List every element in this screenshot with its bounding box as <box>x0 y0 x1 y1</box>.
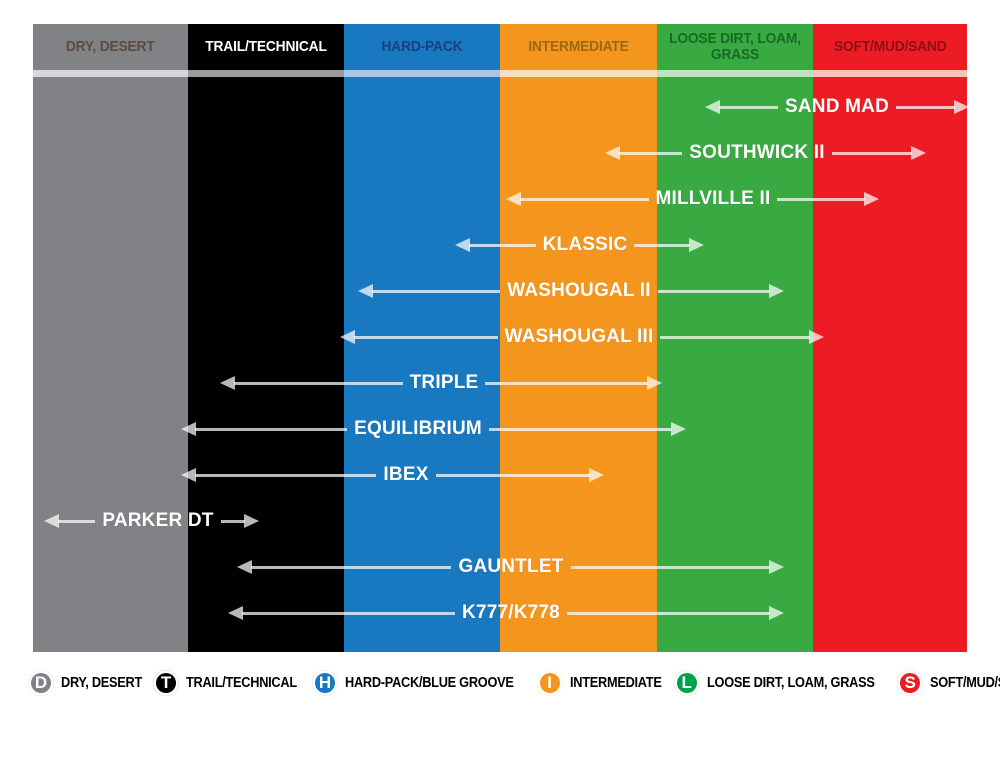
range-bar[interactable]: K777/K778 <box>228 600 770 626</box>
legend-badge-icon: I <box>537 670 563 696</box>
arrow-right-icon <box>221 508 259 534</box>
range-bar[interactable]: SOUTHWICK II <box>605 140 912 166</box>
arrow-right-icon <box>485 370 662 396</box>
arrow-left-icon <box>340 324 498 350</box>
range-bar-label: MILLVILLE II <box>656 188 771 210</box>
column-header-row: DRY, DESERTTRAIL/TECHNICALHARD-PACKINTER… <box>33 24 967 70</box>
column-header-hard-pack: HARD-PACK <box>344 24 500 70</box>
arrow-right-icon <box>489 416 686 442</box>
range-bar[interactable]: GAUNTLET <box>237 554 770 580</box>
column-header-intermediate: INTERMEDIATE <box>500 24 657 70</box>
legend-label: LOOSE DIRT, LOAM, GRASS <box>707 675 875 691</box>
column-header-trail-technical: TRAIL/TECHNICAL <box>188 24 344 70</box>
legend-label: INTERMEDIATE <box>570 675 662 691</box>
arrow-left-icon <box>605 140 682 166</box>
range-bar[interactable]: EQUILIBRIUM <box>181 416 672 442</box>
column-header-label: LOOSE DIRT, LOAM, GRASS <box>667 31 803 63</box>
column-header-label: TRAIL/TECHNICAL <box>205 39 326 55</box>
range-bar[interactable]: MILLVILLE II <box>506 186 865 212</box>
legend-item[interactable]: IINTERMEDIATE <box>537 670 674 696</box>
divider-segment-hard-pack <box>344 70 500 77</box>
legend-label: TRAIL/TECHNICAL <box>186 675 297 691</box>
range-bar-label: GAUNTLET <box>458 556 563 578</box>
range-bar-label: WASHOUGAL II <box>507 280 651 302</box>
legend-item[interactable]: TTRAIL/TECHNICAL <box>153 670 312 696</box>
legend-label: DRY, DESERT <box>61 675 142 691</box>
arrow-right-icon <box>571 554 784 580</box>
arrow-right-icon <box>777 186 879 212</box>
header-divider-band <box>33 70 967 77</box>
range-bar-label: SOUTHWICK II <box>689 142 824 164</box>
arrow-left-icon <box>506 186 649 212</box>
arrow-left-icon <box>220 370 403 396</box>
range-bar[interactable]: WASHOUGAL II <box>358 278 770 304</box>
range-bar-label: K777/K778 <box>462 602 560 624</box>
divider-segment-trail-technical <box>188 70 344 77</box>
range-bar[interactable]: IBEX <box>181 462 590 488</box>
arrow-left-icon <box>237 554 451 580</box>
arrow-right-icon <box>896 94 969 120</box>
column-header-soft-mud-sand: SOFT/MUD/SAND <box>813 24 967 70</box>
legend-badge-icon: H <box>312 670 338 696</box>
arrow-left-icon <box>455 232 536 258</box>
arrow-left-icon <box>705 94 778 120</box>
column-band-dry-desert <box>33 77 188 652</box>
range-bar[interactable]: TRIPLE <box>220 370 648 396</box>
range-bar[interactable]: WASHOUGAL III <box>340 324 810 350</box>
range-bar-label: KLASSIC <box>543 234 628 256</box>
column-header-label: INTERMEDIATE <box>528 39 628 55</box>
arrow-right-icon <box>436 462 604 488</box>
range-bar-label: WASHOUGAL III <box>505 326 654 348</box>
range-bar-label: IBEX <box>383 464 428 486</box>
column-header-label: DRY, DESERT <box>66 39 155 55</box>
column-header-loose-dirt: LOOSE DIRT, LOAM, GRASS <box>657 24 813 70</box>
range-bar-label: TRIPLE <box>410 372 479 394</box>
divider-segment-soft-mud-sand <box>813 70 967 77</box>
range-bar-label: PARKER DT <box>102 510 213 532</box>
legend-item[interactable]: HHARD-PACK/BLUE GROOVE <box>312 670 537 696</box>
arrow-right-icon <box>660 324 824 350</box>
legend-label: SOFT/MUD/SAND <box>930 675 1000 691</box>
range-bar[interactable]: SAND MAD <box>705 94 955 120</box>
range-bar-label: SAND MAD <box>785 96 889 118</box>
divider-segment-intermediate <box>500 70 657 77</box>
legend-item[interactable]: DDRY, DESERT <box>28 670 153 696</box>
terrain-chart: DRY, DESERTTRAIL/TECHNICALHARD-PACKINTER… <box>0 0 1000 769</box>
legend: DDRY, DESERTTTRAIL/TECHNICALHHARD-PACK/B… <box>28 666 972 700</box>
divider-segment-loose-dirt <box>657 70 813 77</box>
divider-segment-dry-desert <box>33 70 188 77</box>
arrow-left-icon <box>358 278 500 304</box>
column-header-dry-desert: DRY, DESERT <box>33 24 188 70</box>
arrow-left-icon <box>44 508 95 534</box>
legend-badge-icon: S <box>897 670 923 696</box>
legend-badge-icon: D <box>28 670 54 696</box>
legend-label: HARD-PACK/BLUE GROOVE <box>345 675 514 691</box>
arrow-left-icon <box>181 462 376 488</box>
column-header-label: SOFT/MUD/SAND <box>834 39 947 55</box>
arrow-left-icon <box>181 416 347 442</box>
column-header-label: HARD-PACK <box>382 39 463 55</box>
legend-badge-icon: T <box>153 670 179 696</box>
legend-item[interactable]: SSOFT/MUD/SAND <box>897 670 1000 696</box>
arrow-right-icon <box>567 600 784 626</box>
arrow-right-icon <box>832 140 926 166</box>
arrow-left-icon <box>228 600 455 626</box>
arrow-right-icon <box>658 278 784 304</box>
legend-badge-icon: L <box>674 670 700 696</box>
legend-item[interactable]: LLOOSE DIRT, LOAM, GRASS <box>674 670 897 696</box>
range-bar[interactable]: KLASSIC <box>455 232 690 258</box>
arrow-right-icon <box>634 232 704 258</box>
range-bar-label: EQUILIBRIUM <box>354 418 482 440</box>
range-bar[interactable]: PARKER DT <box>44 508 245 534</box>
